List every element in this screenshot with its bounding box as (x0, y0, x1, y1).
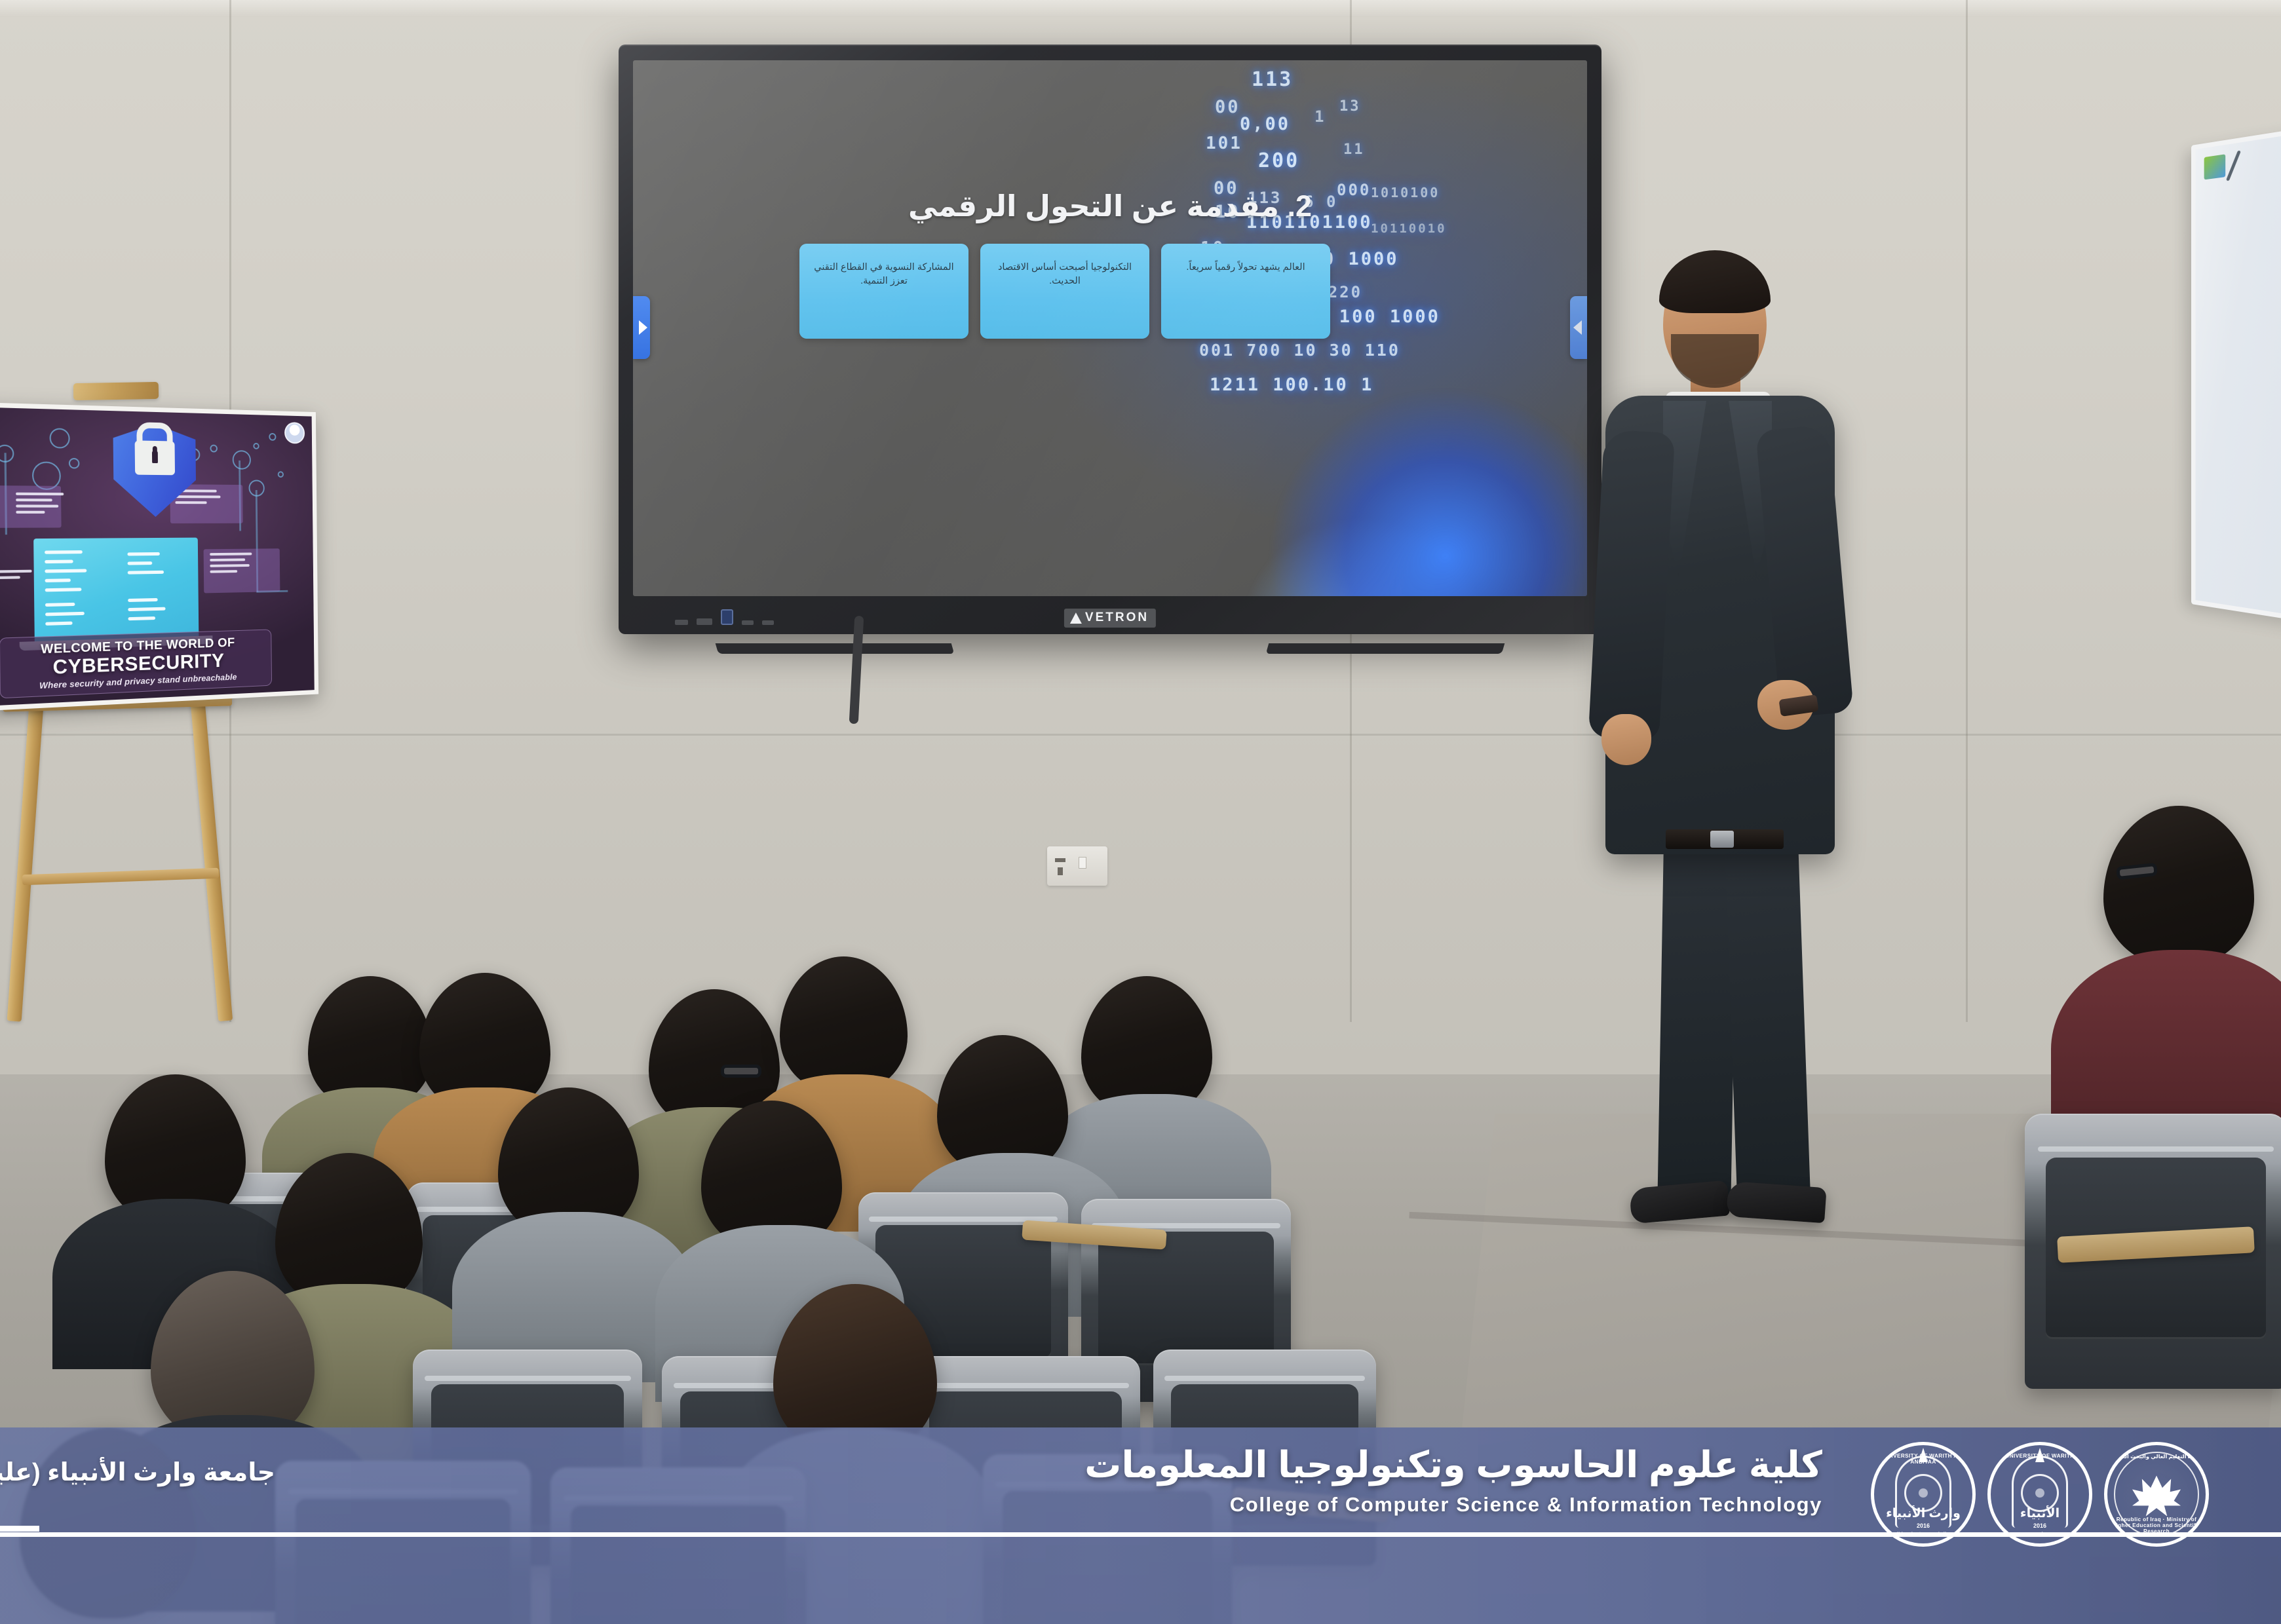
university-seal-icon (284, 422, 305, 444)
whiteboard (2191, 128, 2281, 621)
smart-display[interactable]: 113000,001012001131100113600001011011011… (619, 45, 1601, 634)
university-logo: UNIVERSITY OF WARITH AL-ANBIYAA وارث الأ… (1871, 1442, 1976, 1547)
binary-digit-group: 113 (1252, 69, 1293, 90)
ministry-logo-english: Republic of Iraq · Ministry of Higher Ed… (2107, 1517, 2206, 1534)
aux-port[interactable] (742, 620, 754, 625)
footer-logos: UNIVERSITY OF WARITH AL-ANBIYAA وارث الأ… (1871, 1442, 2209, 1547)
binary-digit-group: 1010100 (1371, 186, 1440, 200)
slide-card: التكنولوجيا أصبحت أساس الاقتصاد الحديث. (980, 244, 1149, 339)
play-triangle-icon (639, 320, 647, 335)
display-stand-leg (1266, 643, 1505, 654)
cybersecurity-poster: WELCOME TO THE WORLD OF CYBERSECURITY Wh… (0, 402, 318, 711)
binary-digit-group: 10110010 (1371, 223, 1447, 236)
screen-left-menu-handle[interactable] (633, 296, 650, 359)
binary-digit-group: 0 (1326, 194, 1337, 210)
binary-digit-group: 00 (1215, 98, 1240, 117)
marker-pen-icon (2226, 150, 2241, 181)
display-brand-plate: VETRON (1064, 609, 1156, 628)
presenter-trouser-right (1725, 844, 1811, 1213)
hdmi-port[interactable] (697, 618, 712, 625)
display-port-row (675, 609, 774, 625)
footer-divider-stub (0, 1526, 39, 1532)
data-glow (1174, 169, 1587, 596)
presenter (1592, 255, 1933, 1218)
university-name-arabic: جامعة وارث الأنبياء (عليه السلام) (0, 1458, 275, 1487)
play-triangle-icon (1573, 320, 1582, 335)
lecture-hall-photo: 113000,001012001131100113600001011011011… (0, 0, 2281, 1624)
college-logo-year: 2016 (1991, 1522, 2089, 1529)
lock-port[interactable] (721, 609, 733, 625)
university-logo-year: 2016 (1874, 1522, 1972, 1529)
slide-title: 2. مقدمة عن التحول الرقمي (814, 189, 1312, 223)
presenter-shoe-left (1629, 1180, 1730, 1224)
binary-digit-group: 1 (1314, 109, 1326, 125)
college-name-english: College of Computer Science & Informatio… (1084, 1493, 1822, 1517)
university-logo-footline: كلية علوم الحاسوب وتكنولوجيا المعلومات (1874, 1532, 1972, 1537)
binary-digit-group: 001 700 10 30 110 (1199, 342, 1400, 359)
college-logo-footline: جامعة (1991, 1532, 2089, 1537)
usb-port[interactable] (675, 620, 688, 625)
laptop-icon (34, 537, 199, 641)
binary-digit-group: 13 (1339, 100, 1361, 115)
screen-right-menu-handle[interactable] (1570, 296, 1587, 359)
college-name-arabic: كلية علوم الحاسوب وتكنولوجيا المعلومات (1084, 1443, 1822, 1486)
display-screen[interactable]: 113000,001012001131100113600001011011011… (633, 60, 1587, 596)
vetron-logo-icon (1070, 613, 1082, 624)
audience-glasses (721, 1065, 761, 1078)
presenter-shoe-right (1726, 1181, 1826, 1223)
university-logo-arabic: وارث الأنبياء (1874, 1506, 1972, 1521)
binary-digit-group: 1211 100.10 1 (1210, 376, 1373, 394)
slide-card: المشاركة النسوية في القطاع التقني تعزز ا… (799, 244, 968, 339)
binary-digit-group: 200 (1258, 151, 1299, 171)
presenter-trouser-left (1657, 844, 1737, 1213)
presenter-belt-buckle (1710, 831, 1734, 848)
binary-digit-group: 11 (1343, 143, 1365, 158)
easel-top-bar (73, 382, 159, 400)
college-name-block: كلية علوم الحاسوب وتكنولوجيا المعلومات C… (1084, 1443, 1822, 1517)
display-bezel: 113000,001012001131100113600001011011011… (619, 45, 1601, 634)
binary-digit-group: 101 (1206, 135, 1242, 153)
footer-banner: جامعة وارث الأنبياء (عليه السلام) كلية ع… (0, 1427, 2281, 1624)
presenter-hair (1659, 250, 1771, 313)
binary-digit-group: 0,00 (1240, 115, 1290, 134)
padlock-icon (135, 440, 175, 475)
display-brand-name: VETRON (1085, 611, 1149, 625)
wall-seam (1966, 0, 1968, 1022)
ministry-logo-arabic: وزارة التعليم العالي والبحث العلمي (2107, 1453, 2206, 1460)
slide-cards: العالم يشهد تحولاً رقمياً سريعاً. التكنو… (799, 244, 1330, 339)
ceiling-strip (0, 0, 2281, 17)
display-stand-leg (716, 643, 955, 654)
audience-head (780, 956, 908, 1094)
poster-artwork: WELCOME TO THE WORLD OF CYBERSECURITY Wh… (0, 407, 315, 706)
presenter-hand-left (1601, 714, 1651, 765)
ministry-logo: وزارة التعليم العالي والبحث العلمي Repub… (2104, 1442, 2209, 1547)
college-logo-arabic: الأنبياء (1991, 1506, 2089, 1521)
presenter-beard (1671, 334, 1759, 388)
binary-digit-group: 000 (1337, 182, 1371, 198)
laptop-screen (34, 537, 199, 641)
aux-port[interactable] (762, 620, 774, 625)
slide-card: العالم يشهد تحولاً رقمياً سريعاً. (1161, 244, 1330, 339)
college-logo: UNIVERSITY OF WARITH الأنبياء 2016 جامعة (1987, 1442, 2092, 1547)
recycle-sticker-icon (2204, 154, 2226, 179)
